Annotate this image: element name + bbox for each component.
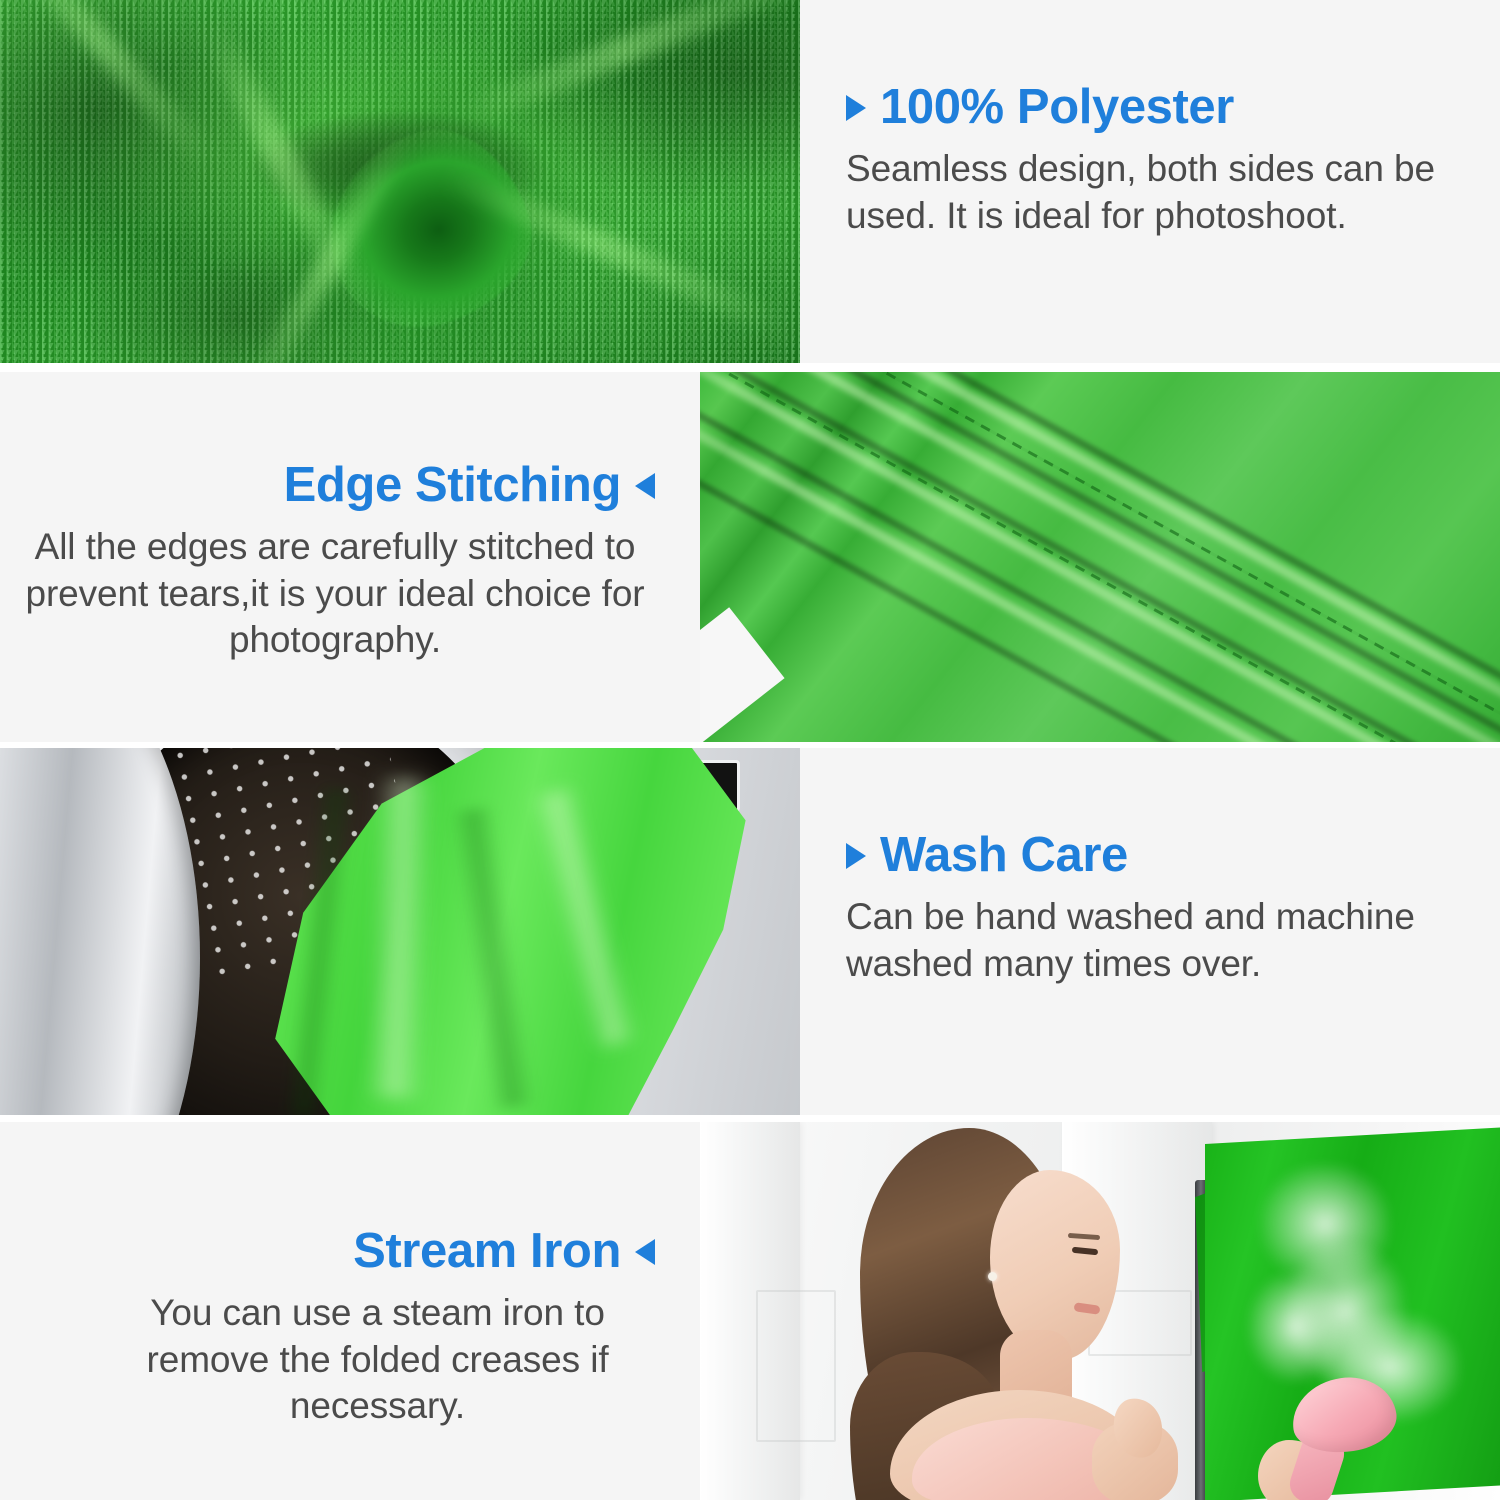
triangle-left-icon (635, 1239, 655, 1265)
feature-body-polyester: Seamless design, both sides can be used.… (846, 146, 1472, 239)
feature-heading-stream-iron: Stream Iron (353, 1226, 655, 1277)
feature-body-stream-iron: You can use a steam iron to remove the f… (100, 1290, 655, 1430)
feature-heading-edge-stitching: Edge Stitching (284, 460, 655, 511)
feature-panel-stream-iron: Stream Iron You can use a steam iron to … (0, 1122, 700, 1500)
washing-machine-with-green-cloth-photo (0, 748, 800, 1115)
feature-panel-edge-stitching: Edge Stitching All the edges are careful… (0, 372, 700, 742)
feature-heading-label: Wash Care (880, 830, 1128, 881)
washing-machine-body (0, 748, 800, 1115)
wall-art-left (756, 1290, 836, 1442)
steam-plume (1248, 1272, 1344, 1382)
folded-stitched-green-fabric-photo (700, 372, 1500, 742)
feature-panel-wash-care: Wash Care Can be hand washed and machine… (800, 748, 1500, 1115)
feature-heading-polyester: 100% Polyester (846, 82, 1234, 133)
feature-heading-wash-care: Wash Care (846, 830, 1128, 881)
green-woven-fabric-swirl-photo (0, 0, 800, 363)
feature-heading-label: 100% Polyester (880, 82, 1234, 133)
studio-scene (700, 1122, 1500, 1500)
feature-body-edge-stitching: All the edges are carefully stitched to … (15, 524, 655, 664)
feature-panel-polyester: 100% Polyester Seamless design, both sid… (800, 0, 1500, 363)
feature-heading-label: Stream Iron (353, 1226, 621, 1277)
earring (988, 1272, 997, 1281)
feature-heading-label: Edge Stitching (284, 460, 621, 511)
triangle-right-icon (846, 843, 866, 869)
washer-door-glass (0, 748, 200, 1115)
cloth-highlight (364, 777, 435, 1099)
product-feature-infographic: 100% Polyester Seamless design, both sid… (0, 0, 1500, 1500)
triangle-right-icon (846, 95, 866, 121)
triangle-left-icon (635, 473, 655, 499)
woman-steaming-green-backdrop-photo (700, 1122, 1500, 1500)
feature-body-wash-care: Can be hand washed and machine washed ma… (846, 894, 1482, 987)
